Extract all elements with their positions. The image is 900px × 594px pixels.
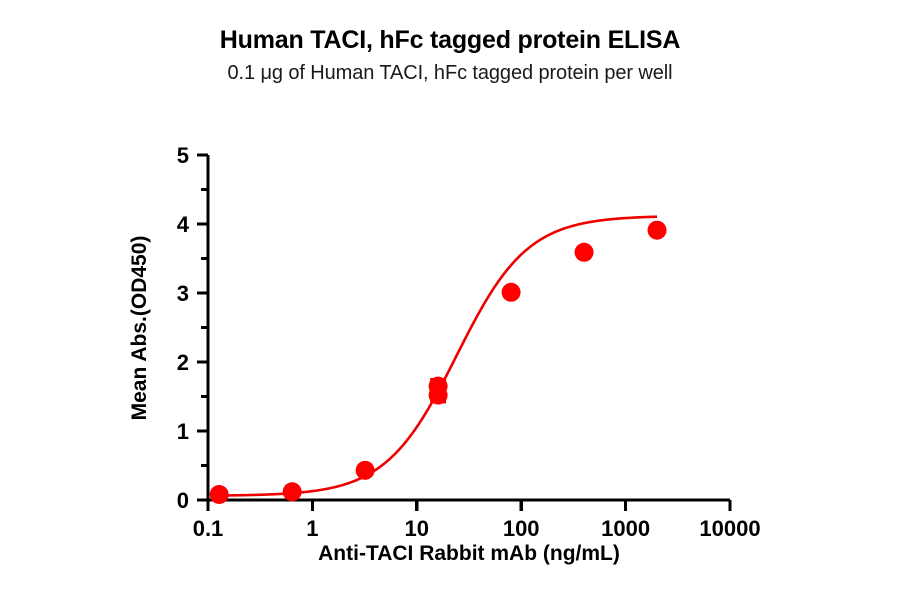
y-axis: 012345 bbox=[177, 143, 208, 513]
y-tick-label: 0 bbox=[177, 488, 189, 513]
y-axis-tick-labels: 012345 bbox=[177, 143, 190, 513]
data-point bbox=[575, 243, 594, 262]
x-tick-label: 100 bbox=[503, 516, 540, 541]
x-axis-title: Anti-TACI Rabbit mAb (ng/mL) bbox=[318, 542, 620, 565]
data-point bbox=[283, 482, 302, 501]
y-tick-label: 1 bbox=[177, 419, 189, 444]
x-tick-label: 10 bbox=[405, 516, 429, 541]
data-point-markers bbox=[210, 221, 667, 504]
data-point bbox=[356, 461, 375, 480]
x-tick-label: 1000 bbox=[601, 516, 650, 541]
data-point bbox=[502, 283, 521, 302]
y-axis-title: Mean Abs.(OD450) bbox=[128, 236, 151, 421]
x-tick-label: 0.1 bbox=[193, 516, 224, 541]
x-tick-label: 10000 bbox=[699, 516, 760, 541]
chart-figure: Human TACI, hFc tagged protein ELISA 0.1… bbox=[0, 0, 900, 594]
x-axis: 0.1110100100010000 bbox=[193, 500, 761, 541]
x-axis-tick-labels: 0.1110100100010000 bbox=[193, 516, 761, 541]
y-tick-label: 2 bbox=[177, 350, 189, 375]
x-tick-label: 1 bbox=[306, 516, 318, 541]
data-point bbox=[429, 377, 448, 396]
fit-curve bbox=[219, 217, 657, 496]
data-point bbox=[210, 485, 229, 504]
y-tick-label: 5 bbox=[177, 143, 189, 168]
data-point bbox=[648, 221, 667, 240]
y-tick-label: 4 bbox=[177, 212, 190, 237]
x-axis-major-ticks bbox=[208, 500, 730, 511]
y-tick-label: 3 bbox=[177, 281, 189, 306]
plot-area: 012345 0.1110100100010000 Anti-TACI Rabb… bbox=[0, 0, 900, 594]
